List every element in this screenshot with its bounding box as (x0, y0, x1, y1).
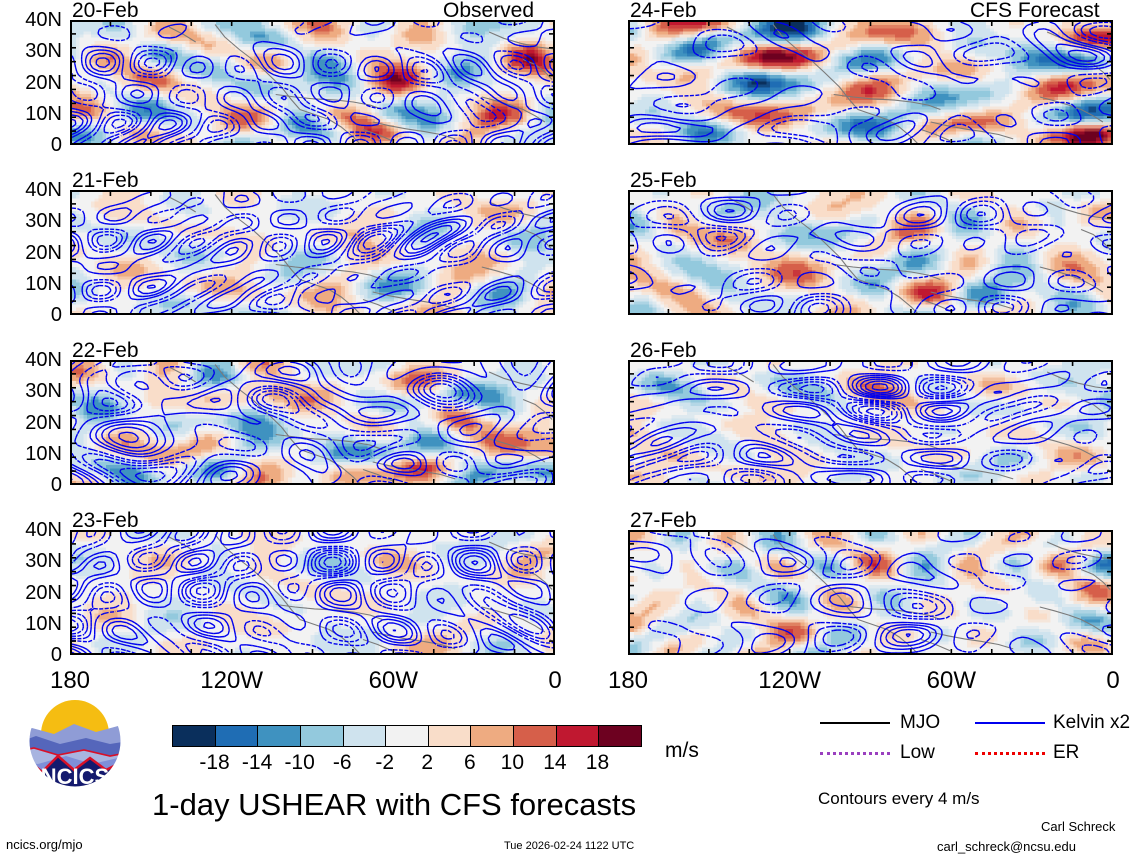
x-axis-tick-label: 120W (192, 669, 272, 693)
y-axis-tick-label: 0 (0, 305, 62, 325)
y-axis-tick-label: 30N (0, 41, 62, 61)
panel-date-label: 24-Feb (630, 0, 697, 21)
colorbar-tick-label: 18 (569, 752, 625, 773)
y-axis-tick-label: 40N (0, 10, 62, 30)
colorbar (172, 725, 642, 747)
colorbar-segment (386, 726, 429, 746)
panel-date-label: 23-Feb (72, 510, 139, 531)
y-axis-tick-label: 10N (0, 274, 62, 294)
x-axis-tick-label: 120W (750, 669, 830, 693)
colorbar-segment (173, 726, 216, 746)
x-axis-tick-label: 180 (588, 669, 668, 693)
y-axis-tick-label: 0 (0, 135, 62, 155)
colorbar-segment (514, 726, 557, 746)
map-panel (628, 360, 1113, 485)
ncics-logo-text: NCICS (41, 764, 109, 789)
y-axis-tick-label: 40N (0, 350, 62, 370)
panel-date-label: 25-Feb (630, 170, 697, 191)
y-axis-tick-label: 0 (0, 475, 62, 495)
legend-label-low: Low (900, 743, 935, 762)
panel-date-label: 27-Feb (630, 510, 697, 531)
x-axis-tick-label: 0 (1073, 669, 1135, 693)
colorbar-segment (301, 726, 344, 746)
panel-date-label: 22-Feb (72, 340, 139, 361)
y-axis-tick-label: 30N (0, 381, 62, 401)
y-axis-tick-label: 20N (0, 243, 62, 263)
column-header-observed: Observed (443, 0, 534, 21)
legend-line-low (820, 752, 890, 755)
legend-line-mjo (820, 722, 890, 724)
y-axis-tick-label: 10N (0, 104, 62, 124)
page-title: 1-day USHEAR with CFS forecasts (152, 789, 636, 820)
map-panel (628, 530, 1113, 655)
colorbar-segment (344, 726, 387, 746)
x-axis-tick-label: 60W (353, 669, 433, 693)
legend-line-kelvin (975, 722, 1045, 724)
legend-label-kelvin: Kelvin x2 (1053, 713, 1130, 732)
y-axis-tick-label: 30N (0, 551, 62, 571)
y-axis-tick-label: 10N (0, 614, 62, 634)
footer-email[interactable]: carl_schreck@ncsu.edu (937, 840, 1076, 853)
panel-date-label: 26-Feb (630, 340, 697, 361)
map-panel (628, 20, 1113, 145)
colorbar-unit-label: m/s (665, 740, 699, 761)
colorbar-segment (216, 726, 259, 746)
map-panel (70, 360, 555, 485)
x-axis-tick-label: 180 (30, 669, 110, 693)
colorbar-segment (429, 726, 472, 746)
colorbar-segment (471, 726, 514, 746)
map-panel (70, 190, 555, 315)
y-axis-tick-label: 30N (0, 211, 62, 231)
panel-date-label: 20-Feb (72, 0, 139, 21)
colorbar-segment (557, 726, 600, 746)
y-axis-tick-label: 0 (0, 645, 62, 665)
legend-label-er: ER (1053, 743, 1079, 762)
y-axis-tick-label: 40N (0, 520, 62, 540)
column-header-forecast: CFS Forecast (970, 0, 1100, 21)
map-panel (70, 20, 555, 145)
y-axis-tick-label: 20N (0, 583, 62, 603)
colorbar-segment (599, 726, 641, 746)
legend-line-er (975, 752, 1045, 755)
y-axis-tick-label: 40N (0, 180, 62, 200)
x-axis-tick-label: 60W (911, 669, 991, 693)
y-axis-tick-label: 20N (0, 413, 62, 433)
footer-site-link[interactable]: ncics.org/mjo (6, 838, 83, 851)
y-axis-tick-label: 10N (0, 444, 62, 464)
colorbar-segment (258, 726, 301, 746)
ncics-logo: NCICS (14, 694, 136, 789)
map-panel (70, 530, 555, 655)
y-axis-tick-label: 20N (0, 73, 62, 93)
legend-label-mjo: MJO (900, 713, 940, 732)
contour-interval-note: Contours every 4 m/s (818, 790, 980, 807)
footer-timestamp: Tue 2026-02-24 1122 UTC (504, 840, 634, 853)
footer-author: Carl Schreck (1041, 820, 1115, 833)
x-axis-tick-label: 0 (515, 669, 595, 693)
panel-date-label: 21-Feb (72, 170, 139, 191)
map-panel (628, 190, 1113, 315)
